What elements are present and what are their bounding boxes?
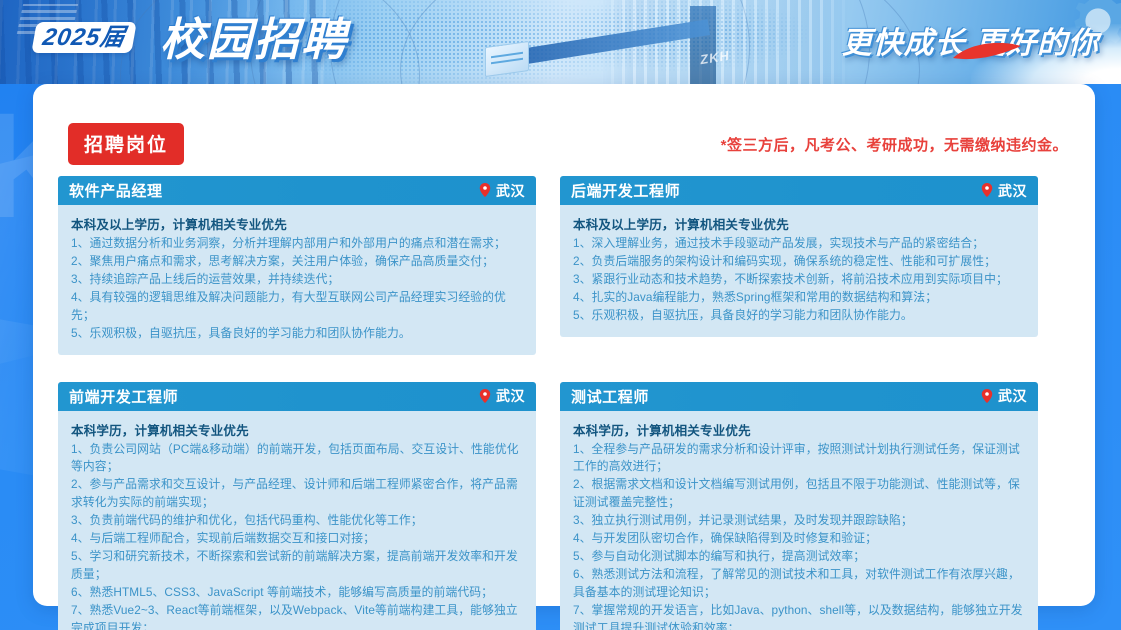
job-card-header: 测试工程师 武汉 [560,382,1038,411]
job-location: 武汉 [479,386,525,406]
job-requirement-item: 3、持续追踪产品上线后的运营效果，并持续迭代； [71,271,523,289]
job-location-label: 武汉 [496,386,525,406]
job-location: 武汉 [479,181,525,201]
job-card-body: 本科学历，计算机相关专业优先 1、负责公司网站（PC端&移动端）的前端开发，包括… [58,411,536,630]
job-requirement-item: 2、聚焦用户痛点和需求，思考解决方案，关注用户体验，确保产品高质量交付； [71,253,523,271]
job-location: 武汉 [981,386,1027,406]
job-requirement-item: 5、学习和研究新技术，不断探索和尝试新的前端解决方案，提高前端开发效率和开发质量… [71,548,523,584]
year-badge: 2025届 [31,22,137,53]
map-pin-icon [479,389,491,404]
job-requirement-list: 1、深入理解业务，通过技术手段驱动产品发展，实现技术与产品的紧密结合； 2、负责… [573,235,1025,325]
job-requirement-item: 1、负责公司网站（PC端&移动端）的前端开发，包括页面布局、交互设计、性能优化等… [71,441,523,477]
job-card-header: 前端开发工程师 武汉 [58,382,536,411]
job-cards-grid: 软件产品经理 武汉 本科及以上学历，计算机相关专业优先 1、通过数据分析和业务洞… [58,176,1070,630]
job-card[interactable]: 软件产品经理 武汉 本科及以上学历，计算机相关专业优先 1、通过数据分析和业务洞… [58,176,536,355]
job-requirement-item: 4、扎实的Java编程能力，熟悉Spring框架和常用的数据结构和算法； [573,289,1025,307]
job-card[interactable]: 后端开发工程师 武汉 本科及以上学历，计算机相关专业优先 1、深入理解业务，通过… [560,176,1038,337]
job-card-header: 软件产品经理 武汉 [58,176,536,205]
job-requirement-item: 4、与后端工程师配合，实现前后端数据交互和接口对接； [71,530,523,548]
job-requirement-item: 2、负责后端服务的架构设计和编码实现，确保系统的稳定性、性能和可扩展性； [573,253,1025,271]
job-requirement-heading: 本科及以上学历，计算机相关专业优先 [71,214,523,233]
map-pin-icon [981,389,993,404]
job-requirement-item: 4、具有较强的逻辑思维及解决问题能力，有大型互联网公司产品经理实习经验的优先； [71,289,523,325]
job-requirement-item: 7、熟悉Vue2~3、React等前端框架，以及Webpack、Vite等前端构… [71,602,523,630]
job-title: 软件产品经理 [69,180,163,201]
job-requirement-heading: 本科学历，计算机相关专业优先 [573,420,1025,439]
year-badge-label: 2025届 [41,25,128,50]
job-requirement-item: 6、熟悉HTML5、CSS3、JavaScript 等前端技术，能够编写高质量的… [71,584,523,602]
job-requirement-heading: 本科及以上学历，计算机相关专业优先 [573,214,1025,233]
job-requirement-heading: 本科学历，计算机相关专业优先 [71,420,523,439]
city-tower-icon [690,6,716,84]
job-requirement-item: 7、掌握常规的开发语言，比如Java、python、shell等，以及数据结构，… [573,602,1025,630]
job-title: 后端开发工程师 [571,180,680,201]
job-requirement-item: 3、独立执行测试用例，并记录测试结果，及时发现并跟踪缺陷； [573,512,1025,530]
map-pin-icon [981,183,993,198]
job-requirement-item: 5、乐观积极，自驱抗压，具备良好的学习能力和团队协作能力。 [573,307,1025,325]
job-requirement-item: 5、乐观积极，自驱抗压，具备良好的学习能力和团队协作能力。 [71,325,523,343]
job-requirement-item: 1、全程参与产品研发的需求分析和设计评审，按照测试计划执行测试任务，保证测试工作… [573,441,1025,477]
monitor-icon [485,41,529,77]
job-card[interactable]: 测试工程师 武汉 本科学历，计算机相关专业优先 1、全程参与产品研发的需求分析和… [560,382,1038,630]
contract-notice-text: *签三方后，凡考公、考研成功，无需缴纳违约金。 [721,134,1068,155]
job-requirement-list: 1、全程参与产品研发的需求分析和设计评审，按照测试计划执行测试任务，保证测试工作… [573,441,1025,630]
job-requirement-item: 1、深入理解业务，通过技术手段驱动产品发展，实现技术与产品的紧密结合； [573,235,1025,253]
header-banner: ZKH 2025届 校园招聘 更快成长 更好的你 [0,0,1121,84]
job-requirement-item: 5、参与自动化测试脚本的编写和执行，提高测试效率； [573,548,1025,566]
job-location-label: 武汉 [998,181,1027,201]
job-card-body: 本科及以上学历，计算机相关专业优先 1、深入理解业务，通过技术手段驱动产品发展，… [560,205,1038,337]
job-card-header: 后端开发工程师 武汉 [560,176,1038,205]
job-location: 武汉 [981,181,1027,201]
job-title: 前端开发工程师 [69,386,178,407]
job-card-body: 本科学历，计算机相关专业优先 1、全程参与产品研发的需求分析和设计评审，按照测试… [560,411,1038,630]
job-title: 测试工程师 [571,386,649,407]
job-card[interactable]: 前端开发工程师 武汉 本科学历，计算机相关专业优先 1、负责公司网站（PC端&移… [58,382,536,630]
job-requirement-item: 4、与开发团队密切合作，确保缺陷得到及时修复和验证； [573,530,1025,548]
job-requirement-item: 1、通过数据分析和业务洞察，分析并理解内部用户和外部用户的痛点和潜在需求； [71,235,523,253]
job-location-label: 武汉 [998,386,1027,406]
job-location-label: 武汉 [496,181,525,201]
banner-title: 校园招聘 [160,10,348,71]
section-title-badge: 招聘岗位 [68,123,184,165]
job-requirement-item: 6、熟悉测试方法和流程，了解常见的测试技术和工具，对软件测试工作有浓厚兴趣，具备… [573,566,1025,602]
job-requirement-item: 3、负责前端代码的维护和优化，包括代码重构、性能优化等工作； [71,512,523,530]
banner-slogan: 更快成长 更好的你 [842,18,1099,62]
job-card-body: 本科及以上学历，计算机相关专业优先 1、通过数据分析和业务洞察，分析并理解内部用… [58,205,536,355]
job-requirement-list: 1、负责公司网站（PC端&移动端）的前端开发，包括页面布局、交互设计、性能优化等… [71,441,523,630]
job-requirement-list: 1、通过数据分析和业务洞察，分析并理解内部用户和外部用户的痛点和潜在需求； 2、… [71,235,523,343]
job-requirement-item: 2、参与产品需求和交互设计，与产品经理、设计师和后端工程师紧密合作，将产品需求转… [71,476,523,512]
job-requirement-item: 2、根据需求文档和设计文档编写测试用例，包括且不限于功能测试、性能测试等，保证测… [573,476,1025,512]
map-pin-icon [479,183,491,198]
job-requirement-item: 3、紧跟行业动态和技术趋势，不断探索技术创新，将前沿技术应用到实际项目中； [573,271,1025,289]
content-panel: 招聘岗位 *签三方后，凡考公、考研成功，无需缴纳违约金。 软件产品经理 武汉 本… [33,84,1095,606]
